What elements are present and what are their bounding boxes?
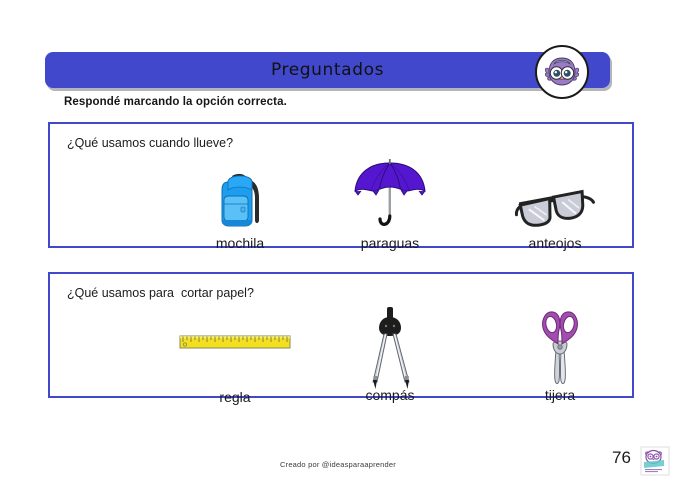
page-title: Preguntados [271,60,384,80]
option-group-1: mochila [50,124,632,246]
option-mochila[interactable]: mochila [165,156,315,251]
umbrella-icon [315,156,465,234]
credit-text: Creado por @ideasparaaprender [280,460,396,469]
instruction-text: Respondé marcando la opción correcta. [64,96,287,108]
option-label: anteojos [480,236,630,251]
option-label: paraguas [315,236,465,251]
header-banner: Preguntados [45,52,610,88]
owl-badge [535,45,589,99]
option-tijera[interactable]: tijera [485,306,635,403]
option-label: regla [160,390,310,405]
option-compas[interactable]: compás [315,306,465,403]
page-number: 76 [612,448,631,468]
option-regla[interactable]: regla [160,306,310,405]
option-group-2: regla [50,274,632,396]
scissors-icon [485,306,635,388]
option-paraguas[interactable]: paraguas [315,156,465,251]
question-box-2: ¿Qué usamos para cortar papel? [48,272,634,398]
header-banner-bar: Preguntados [45,52,610,88]
owl-logo-icon [640,446,670,476]
sunglasses-icon [480,156,630,234]
option-anteojos[interactable]: anteojos [480,156,630,251]
backpack-icon [165,156,315,234]
option-label: mochila [165,236,315,251]
owl-icon [542,52,582,92]
question-box-1: ¿Qué usamos cuando llueve? [48,122,634,248]
option-label: tijera [485,388,635,403]
compass-icon [315,306,465,390]
option-label: compás [315,388,465,403]
ruler-icon [160,306,310,380]
